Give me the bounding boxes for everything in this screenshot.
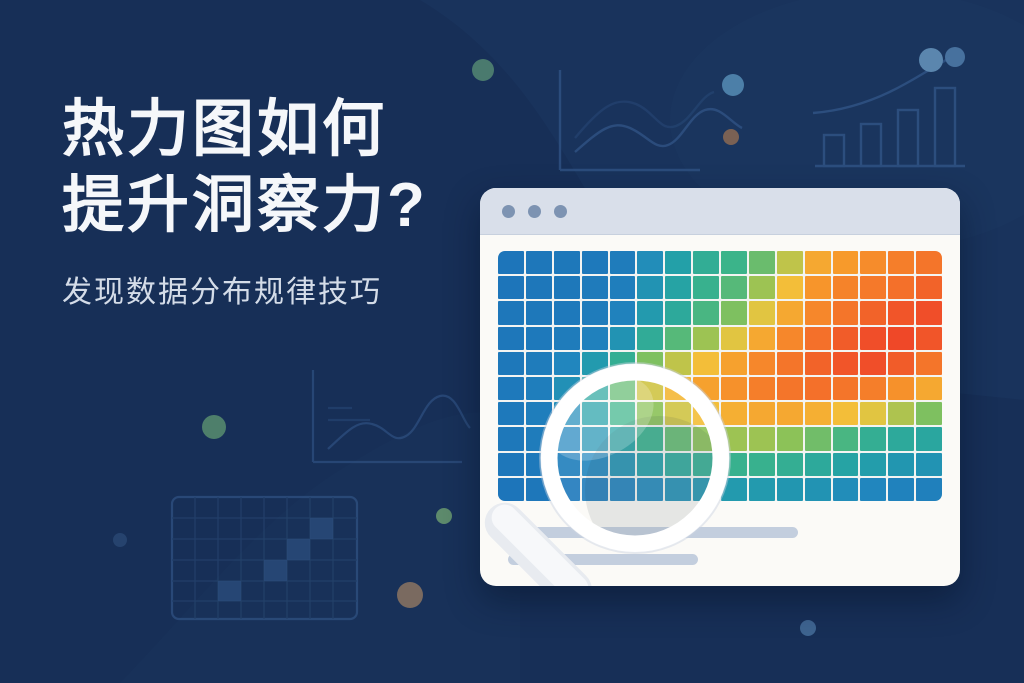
heatmap-cell xyxy=(637,377,663,400)
heatmap-cell xyxy=(777,427,803,450)
heatmap-cell xyxy=(860,301,886,324)
page-title-line-1: 热力图如何 xyxy=(62,92,492,168)
heatmap-cell xyxy=(554,327,580,350)
heatmap-cell xyxy=(526,478,552,501)
heatmap-cell xyxy=(554,427,580,450)
heatmap-cell xyxy=(665,251,691,274)
heatmap-cell xyxy=(610,453,636,476)
browser-window-mockup xyxy=(480,188,960,586)
heatmap-cell xyxy=(665,276,691,299)
heatmap-cell xyxy=(805,427,831,450)
heatmap-cell xyxy=(916,402,942,425)
heatmap-cell xyxy=(860,478,886,501)
heatmap-cell xyxy=(833,478,859,501)
heatmap-cell xyxy=(582,301,608,324)
heatmap-cell xyxy=(526,427,552,450)
heatmap-cell xyxy=(805,478,831,501)
heatmap-cell xyxy=(582,352,608,375)
deco-dot-teal-top xyxy=(472,59,494,81)
heatmap-cell xyxy=(749,251,775,274)
window-maximize-dot-icon[interactable] xyxy=(554,205,567,218)
heatmap-cell xyxy=(693,453,719,476)
heatmap-cell xyxy=(916,301,942,324)
heatmap-cell xyxy=(916,478,942,501)
heatmap-cell xyxy=(582,453,608,476)
deco-dot-blue-bottom xyxy=(800,620,816,636)
heatmap-cell xyxy=(805,402,831,425)
heatmap-cell xyxy=(582,276,608,299)
heatmap-cell xyxy=(498,402,524,425)
heatmap-cell xyxy=(554,377,580,400)
heatmap-cell xyxy=(888,251,914,274)
heatmap-cell xyxy=(749,377,775,400)
heatmap-cell xyxy=(860,427,886,450)
content-placeholder-lines xyxy=(498,527,942,565)
heatmap-cell xyxy=(833,301,859,324)
heatmap-cell xyxy=(526,352,552,375)
heatmap-cell xyxy=(693,402,719,425)
heatmap-cell xyxy=(610,478,636,501)
heatmap-cell xyxy=(554,276,580,299)
heatmap-cell xyxy=(637,453,663,476)
heatmap-cell xyxy=(582,251,608,274)
heatmap-cell xyxy=(665,478,691,501)
heatmap-cell xyxy=(498,327,524,350)
heatmap-cell xyxy=(610,402,636,425)
heatmap-cell xyxy=(721,402,747,425)
headline-block: 热力图如何 提升洞察力? 发现数据分布规律技巧 xyxy=(62,92,492,311)
heatmap-cell xyxy=(526,377,552,400)
heatmap-cell xyxy=(888,301,914,324)
decorative-heatmap-grid xyxy=(172,497,357,619)
heatmap-cell xyxy=(526,453,552,476)
browser-titlebar xyxy=(480,188,960,235)
heatmap-cell xyxy=(693,377,719,400)
heatmap-cell xyxy=(916,453,942,476)
heatmap-cell xyxy=(637,402,663,425)
heatmap-cell xyxy=(498,352,524,375)
heatmap-cell xyxy=(498,377,524,400)
heatmap-cell xyxy=(498,453,524,476)
heatmap-cell xyxy=(749,276,775,299)
heatmap-cell xyxy=(916,377,942,400)
heatmap-cell xyxy=(888,402,914,425)
heatmap-cell xyxy=(721,352,747,375)
heatmap-cell xyxy=(777,301,803,324)
heatmap-cell xyxy=(749,478,775,501)
heatmap-cell xyxy=(888,327,914,350)
heatmap-cell xyxy=(833,377,859,400)
heatmap-cell xyxy=(721,478,747,501)
heatmap-cell xyxy=(554,402,580,425)
heatmap-cell xyxy=(665,427,691,450)
heatmap-cell xyxy=(665,402,691,425)
heatmap-cell xyxy=(665,327,691,350)
heatmap-cell xyxy=(860,352,886,375)
heatmap-cell xyxy=(805,453,831,476)
heatmap-cell xyxy=(888,352,914,375)
heatmap-cell xyxy=(582,327,608,350)
heatmap-cell xyxy=(721,251,747,274)
heatmap-cell xyxy=(749,453,775,476)
heatmap-cell xyxy=(805,301,831,324)
heatmap-cell xyxy=(526,327,552,350)
heatmap-cell xyxy=(637,427,663,450)
heatmap-cell xyxy=(637,478,663,501)
heatmap-cell xyxy=(610,327,636,350)
heatmap-cell xyxy=(721,301,747,324)
heatmap-cell xyxy=(637,301,663,324)
heatmap-cell xyxy=(693,478,719,501)
heatmap-cell xyxy=(777,453,803,476)
heatmap-cell xyxy=(610,276,636,299)
heatmap-cell xyxy=(610,251,636,274)
heatmap-cell xyxy=(637,276,663,299)
heatmap-cell xyxy=(860,453,886,476)
heatmap-cell xyxy=(498,251,524,274)
decorative-bar-chart xyxy=(813,47,965,166)
heatmap-cell xyxy=(777,352,803,375)
deco-dot-blue-top xyxy=(722,74,744,96)
heatmap-cell xyxy=(721,276,747,299)
heatmap-cell xyxy=(554,352,580,375)
heatmap-cell xyxy=(833,453,859,476)
heatmap-cell xyxy=(888,276,914,299)
heatmap-cell xyxy=(526,301,552,324)
heatmap-cell xyxy=(526,251,552,274)
poster-canvas: 热力图如何 提升洞察力? 发现数据分布规律技巧 xyxy=(0,0,1024,683)
heatmap-cell xyxy=(916,251,942,274)
heatmap-cell xyxy=(833,251,859,274)
heatmap-cell xyxy=(749,402,775,425)
heatmap-cell xyxy=(693,251,719,274)
heatmap-cell xyxy=(637,352,663,375)
deco-dot-faint-left xyxy=(113,533,127,547)
heatmap-cell xyxy=(665,301,691,324)
heatmap-cell xyxy=(805,251,831,274)
heatmap-cell xyxy=(665,453,691,476)
heatmap-cell xyxy=(777,377,803,400)
heatmap-cell xyxy=(554,301,580,324)
heatmap-cell xyxy=(610,352,636,375)
heatmap-cell xyxy=(665,352,691,375)
heatmap-cell xyxy=(498,276,524,299)
heatmap-cell xyxy=(916,276,942,299)
heatmap-cell xyxy=(805,327,831,350)
heatmap-cell xyxy=(721,327,747,350)
heatmap-cell xyxy=(582,427,608,450)
heatmap-cell xyxy=(860,276,886,299)
page-subtitle: 发现数据分布规律技巧 xyxy=(62,267,492,311)
heatmap-cell xyxy=(498,427,524,450)
deco-dot-brown-top xyxy=(723,129,739,145)
deco-dot-blue-right xyxy=(919,48,943,72)
heatmap-cell xyxy=(498,301,524,324)
heatmap-cell xyxy=(582,377,608,400)
deco-dot-brown-low xyxy=(397,582,423,608)
decorative-line-chart xyxy=(560,70,742,170)
heatmap-cell xyxy=(860,327,886,350)
heatmap-cell xyxy=(554,453,580,476)
heatmap-cell xyxy=(610,301,636,324)
heatmap-cell xyxy=(916,352,942,375)
heatmap-cell xyxy=(833,402,859,425)
heatmap-cell xyxy=(721,453,747,476)
heatmap-cell xyxy=(582,478,608,501)
heatmap-cell xyxy=(833,327,859,350)
heatmap-cell xyxy=(860,402,886,425)
heatmap-cell xyxy=(860,251,886,274)
heatmap-cell xyxy=(749,327,775,350)
heatmap-chart xyxy=(498,251,942,501)
heatmap-cell xyxy=(693,301,719,324)
page-title-line-2: 提升洞察力? xyxy=(62,168,492,244)
window-minimize-dot-icon[interactable] xyxy=(528,205,541,218)
heatmap-cell xyxy=(526,402,552,425)
heatmap-cell xyxy=(693,276,719,299)
browser-content-area xyxy=(480,235,960,586)
heatmap-cell xyxy=(610,377,636,400)
heatmap-cell xyxy=(554,478,580,501)
heatmap-cell xyxy=(833,352,859,375)
heatmap-cell xyxy=(805,276,831,299)
heatmap-cell xyxy=(777,402,803,425)
heatmap-cell xyxy=(777,251,803,274)
heatmap-cell xyxy=(721,377,747,400)
heatmap-cell xyxy=(888,427,914,450)
placeholder-line-1 xyxy=(508,527,798,538)
heatmap-cell xyxy=(805,352,831,375)
heatmap-cell xyxy=(582,402,608,425)
heatmap-cell xyxy=(721,427,747,450)
heatmap-cell xyxy=(526,276,552,299)
heatmap-cell xyxy=(693,352,719,375)
heatmap-cell xyxy=(916,327,942,350)
heatmap-cell xyxy=(693,427,719,450)
heatmap-cell xyxy=(637,251,663,274)
heatmap-cell xyxy=(833,276,859,299)
heatmap-cell xyxy=(805,377,831,400)
heatmap-cell xyxy=(665,377,691,400)
decorative-wave-chart xyxy=(313,370,470,462)
heatmap-cell xyxy=(749,352,775,375)
deco-dot-green-left xyxy=(202,415,226,439)
heatmap-cell xyxy=(888,478,914,501)
heatmap-cell xyxy=(888,453,914,476)
heatmap-cell xyxy=(749,427,775,450)
heatmap-cell xyxy=(610,427,636,450)
heatmap-cell xyxy=(777,478,803,501)
heatmap-cell xyxy=(777,327,803,350)
deco-dot-green-mid xyxy=(436,508,452,524)
heatmap-cell xyxy=(498,478,524,501)
heatmap-cell xyxy=(637,327,663,350)
heatmap-cell xyxy=(693,327,719,350)
heatmap-cell xyxy=(777,276,803,299)
placeholder-line-2 xyxy=(508,554,698,565)
window-close-dot-icon[interactable] xyxy=(502,205,515,218)
heatmap-cell xyxy=(916,427,942,450)
heatmap-cell xyxy=(554,251,580,274)
heatmap-cell xyxy=(833,427,859,450)
heatmap-cell xyxy=(749,301,775,324)
heatmap-cell xyxy=(860,377,886,400)
heatmap-cell xyxy=(888,377,914,400)
